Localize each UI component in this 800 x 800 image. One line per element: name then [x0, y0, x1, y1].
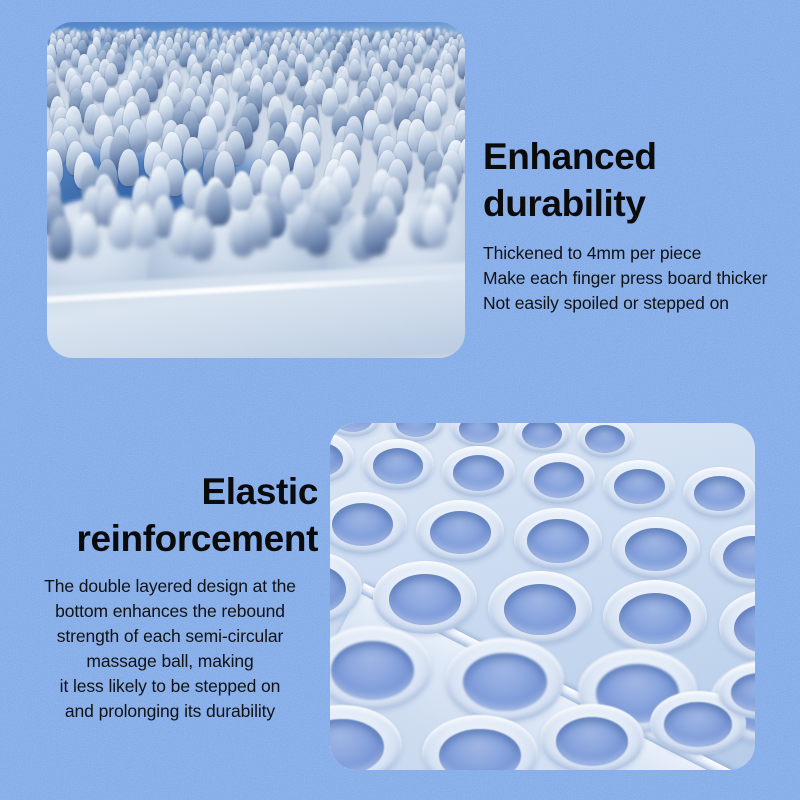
headline-enhanced-line2: durability [483, 180, 783, 227]
body-enhanced-line-1: Thickened to 4mm per piece [483, 243, 701, 263]
body-elastic-line-6: and prolonging its durability [65, 701, 275, 721]
board-nub [146, 110, 163, 140]
board-nub [207, 184, 231, 225]
body-elastic: The double layered design at the bottom … [22, 574, 318, 724]
board-nub [231, 171, 253, 210]
board-nub [198, 116, 216, 148]
board-nub [422, 204, 447, 248]
massage-cavity-inner [331, 641, 415, 700]
massage-cavity-inner [664, 702, 731, 747]
massage-cavity-inner [463, 653, 547, 712]
product-feature-panel: Enhanced durability Thickened to 4mm per… [0, 0, 800, 800]
body-enhanced-line-2: Make each finger press board thicker [483, 268, 767, 288]
massage-cavity-inner [453, 455, 504, 491]
photo-massage-board-nubs-closeup [47, 22, 465, 358]
board-nub [132, 203, 157, 247]
body-elastic-line-4: massage ball, making [86, 651, 253, 671]
massage-cavity-inner [614, 469, 665, 505]
headline-enhanced-line1: Enhanced [483, 133, 783, 180]
body-elastic-line-2: bottom enhances the rebound [55, 601, 285, 621]
photo-massage-board-underside-cavities [330, 423, 755, 770]
text-block-enhanced-durability: Enhanced durability Thickened to 4mm per… [483, 133, 783, 316]
body-enhanced: Thickened to 4mm per piece Make each fin… [483, 241, 783, 316]
board-nub [222, 53, 234, 73]
board-nub [129, 119, 147, 151]
headline-elastic-line1: Elastic [22, 468, 318, 515]
massage-cavity-inner [534, 462, 585, 498]
massage-cavity-inner [527, 519, 589, 562]
headline-elastic-line2: reinforcement [22, 515, 318, 562]
massage-cavity-inner [694, 476, 745, 512]
board-nub [105, 63, 118, 86]
body-elastic-line-5: it less likely to be stepped on [60, 676, 281, 696]
massage-cavity-inner [556, 717, 629, 766]
massage-cavity-inner [332, 503, 394, 546]
text-block-elastic-reinforcement: Elastic reinforcement The double layered… [22, 468, 318, 724]
board-nub [247, 204, 272, 248]
body-enhanced-line-3: Not easily spoiled or stepped on [483, 293, 729, 313]
body-elastic-line-3: strength of each semi-circular [57, 626, 284, 646]
massage-cavity-inner [625, 528, 687, 571]
body-elastic-line-1: The double layered design at the [44, 576, 296, 596]
massage-cavity-inner [389, 574, 462, 625]
massage-cavity-inner [504, 584, 577, 635]
massage-cavity-inner [373, 448, 424, 484]
board-nub [183, 137, 203, 171]
board-nub [305, 211, 330, 255]
